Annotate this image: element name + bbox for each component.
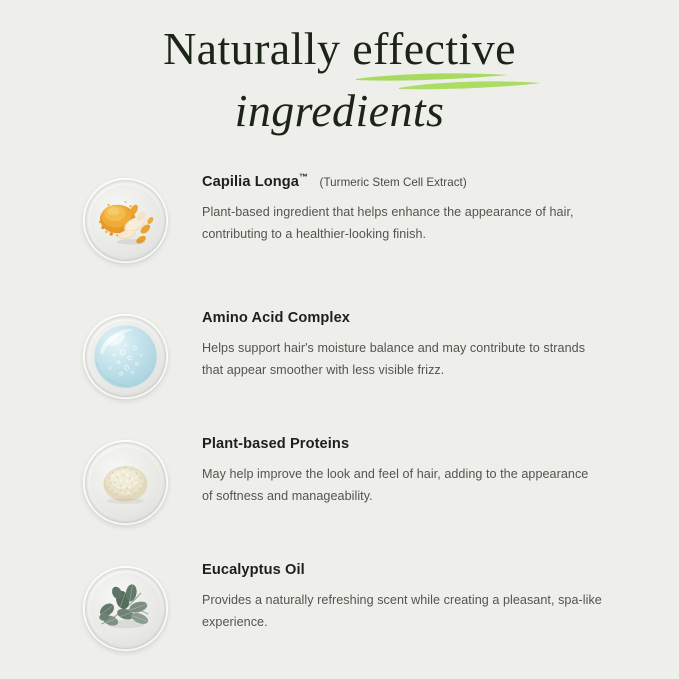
turmeric-powder-and-root-dish xyxy=(83,178,168,263)
ingredient-title: Eucalyptus Oil xyxy=(202,562,305,578)
ingredient-description: Provides a naturally refreshing scent wh… xyxy=(202,590,602,633)
page-title: Naturally effective ingredients xyxy=(0,26,679,134)
eucalyptus-sprig-dish xyxy=(83,566,168,651)
ingredient-heading-row: Eucalyptus Oil xyxy=(202,560,679,579)
list-item: Capilia Longa™ (Turmeric Stem Cell Extra… xyxy=(0,162,679,288)
ingredient-description: May help improve the look and feel of ha… xyxy=(202,464,602,507)
page-title-line-2: ingredients xyxy=(0,88,679,134)
ingredient-heading-row: Amino Acid Complex xyxy=(202,308,679,327)
ingredient-heading-row: Plant-based Proteins xyxy=(202,434,679,453)
ingredient-heading-row: Capilia Longa™ (Turmeric Stem Cell Extra… xyxy=(202,172,679,191)
list-item: Eucalyptus Oil Provides a naturally refr… xyxy=(0,540,679,660)
page-title-line-1: Naturally effective xyxy=(0,26,679,72)
ingredient-description: Helps support hair's moisture balance an… xyxy=(202,338,602,381)
ingredient-text-block: Plant-based Proteins May help improve th… xyxy=(83,414,679,508)
blue-gel-dish xyxy=(83,314,168,399)
ingredient-text-block: Eucalyptus Oil Provides a naturally refr… xyxy=(83,540,679,634)
trademark-symbol: ™ xyxy=(299,172,308,182)
ingredient-description: Plant-based ingredient that helps enhanc… xyxy=(202,202,602,245)
grain-granules-dish xyxy=(83,440,168,525)
ingredient-title: Plant-based Proteins xyxy=(202,436,349,452)
list-item: Amino Acid Complex Helps support hair's … xyxy=(0,288,679,414)
ingredient-text-block: Amino Acid Complex Helps support hair's … xyxy=(83,288,679,382)
ingredient-subtitle: (Turmeric Stem Cell Extract) xyxy=(320,176,467,189)
list-item: Plant-based Proteins May help improve th… xyxy=(0,414,679,540)
ingredient-text-block: Capilia Longa™ (Turmeric Stem Cell Extra… xyxy=(83,162,679,246)
ingredient-title: Amino Acid Complex xyxy=(202,310,350,326)
ingredient-title: Capilia Longa™ xyxy=(202,174,308,190)
ingredient-list: Capilia Longa™ (Turmeric Stem Cell Extra… xyxy=(0,162,679,660)
